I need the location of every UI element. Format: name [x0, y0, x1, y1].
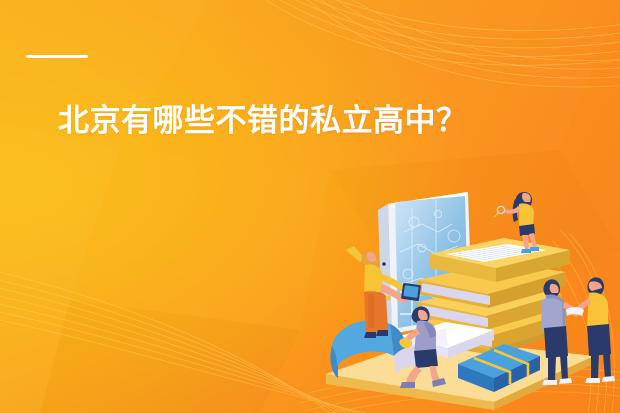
hero-illustration: [318, 188, 620, 413]
page-title: 北京有哪些不错的私立高中？: [58, 99, 578, 143]
title-divider-rule: [26, 55, 88, 58]
banner: 北京有哪些不错的私立高中？: [0, 0, 620, 413]
